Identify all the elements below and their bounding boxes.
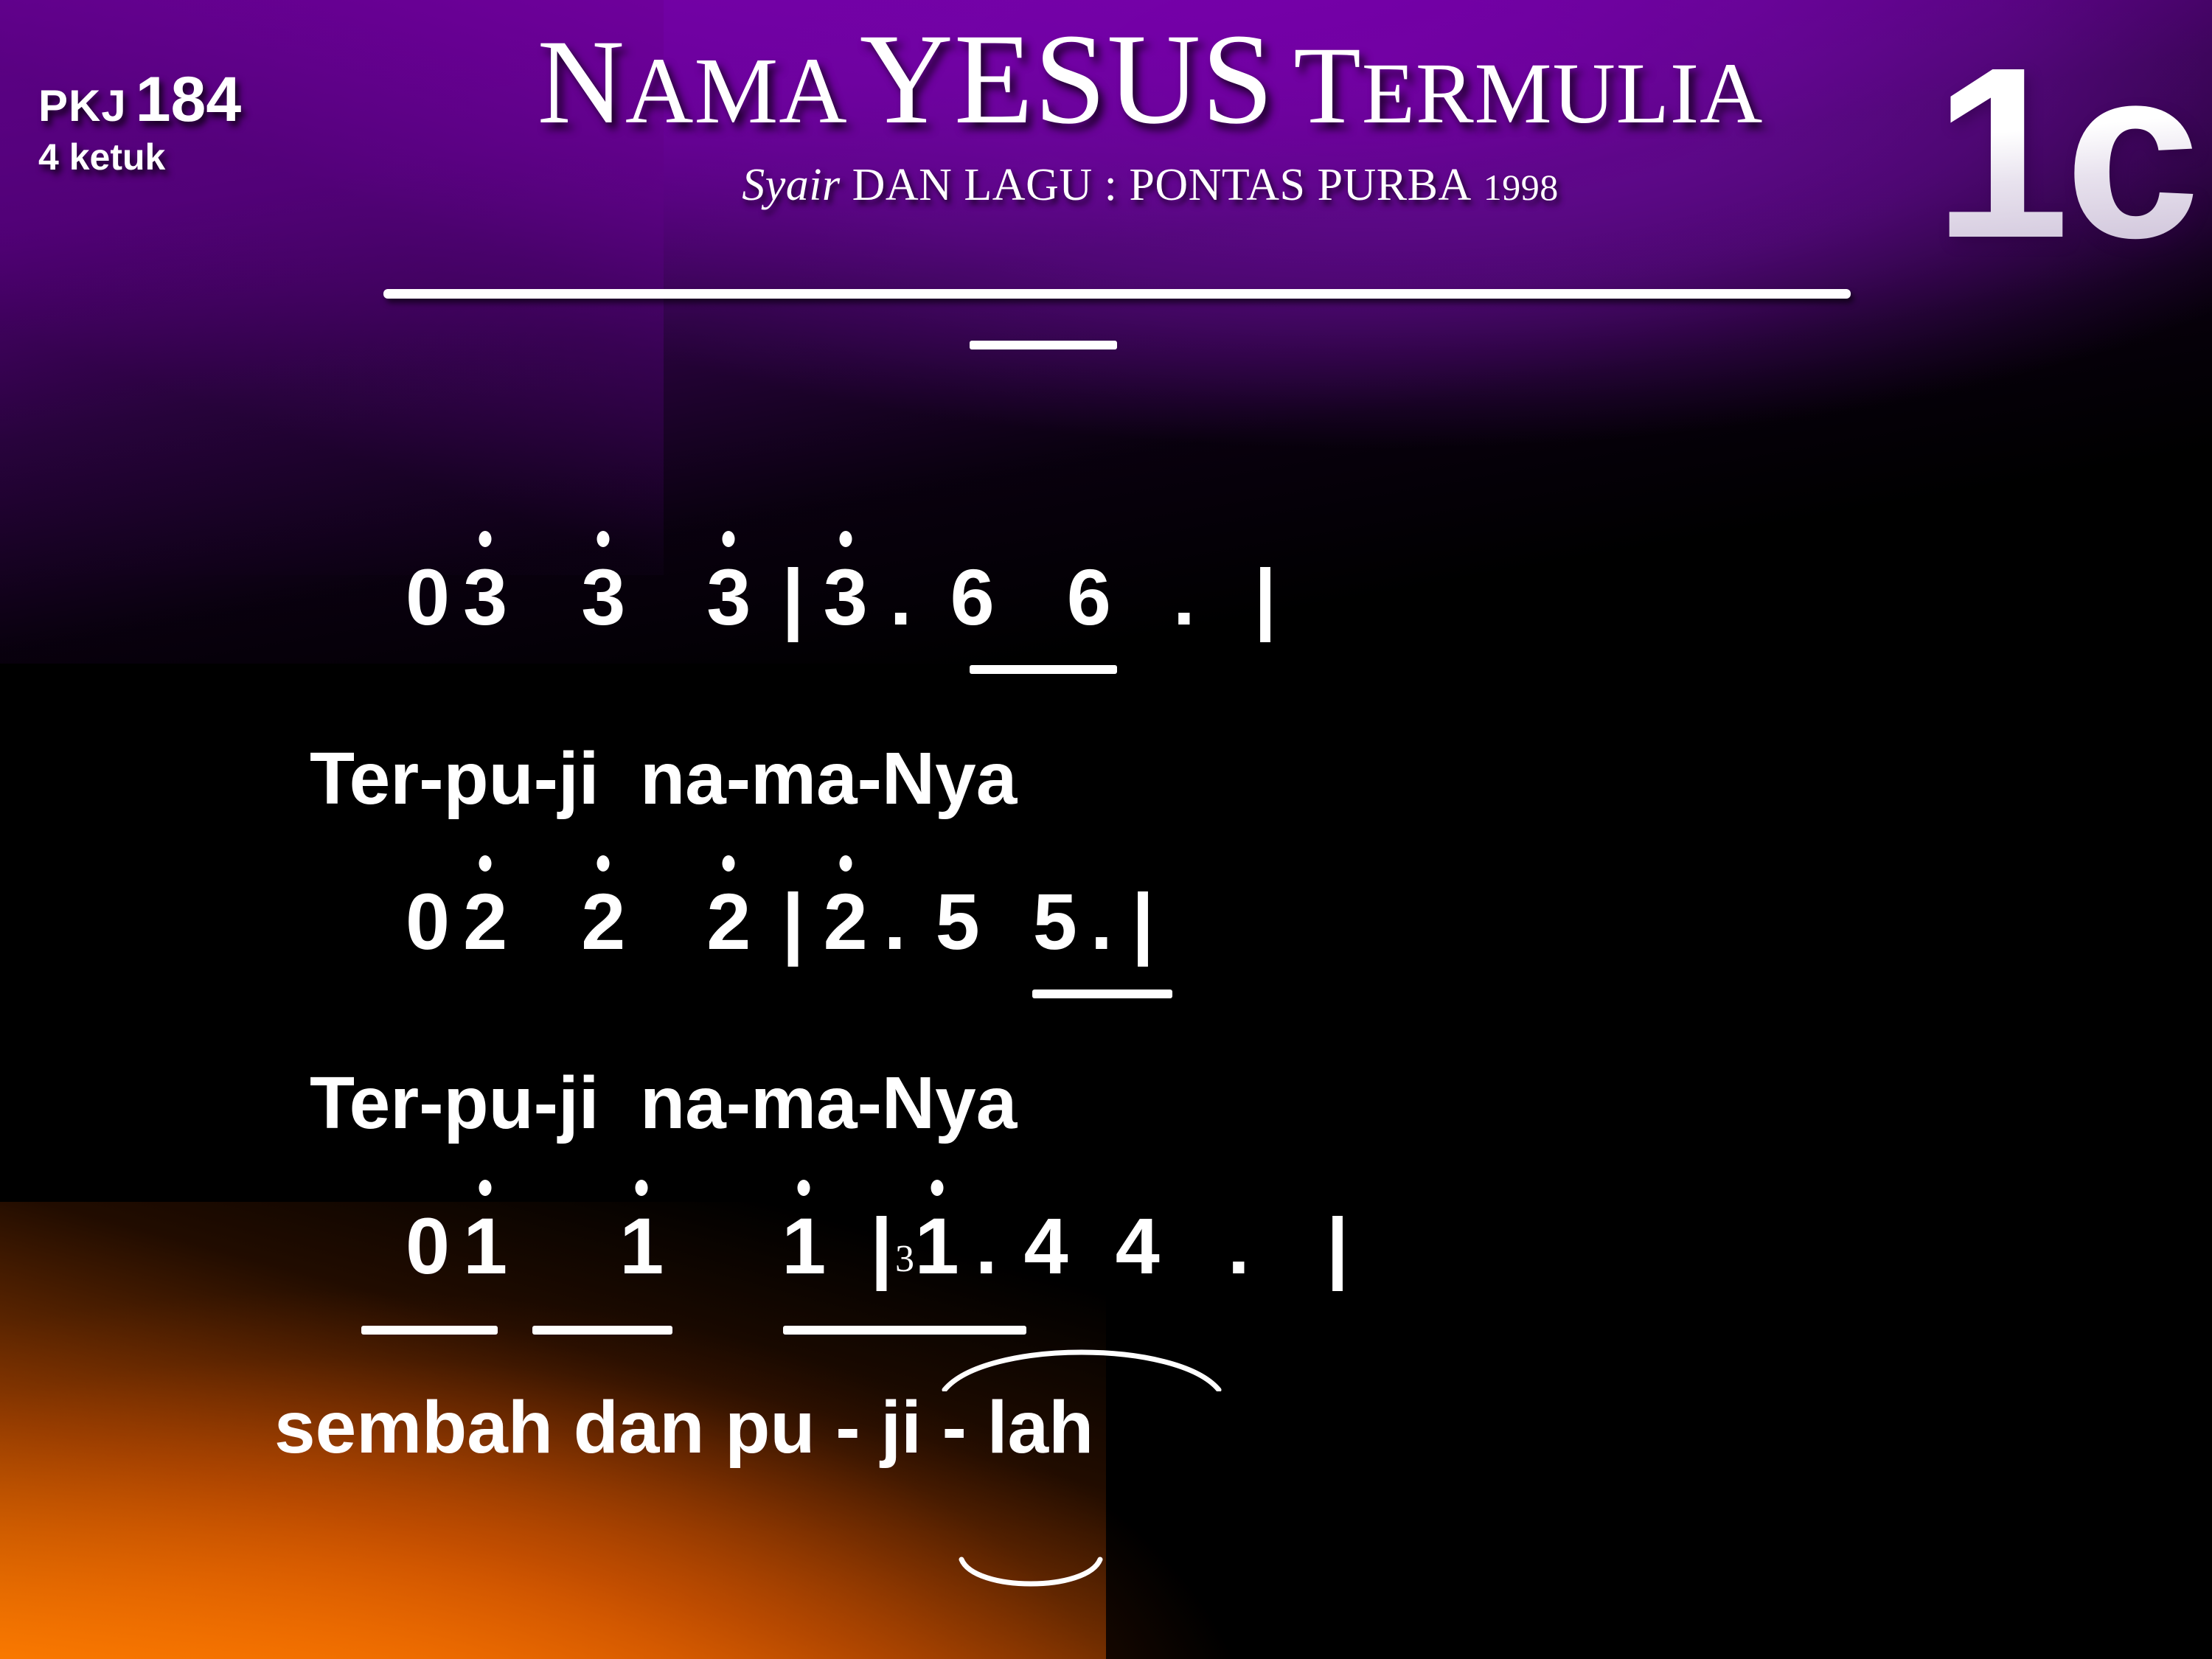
barline-icon: | <box>870 1206 892 1286</box>
beam-icon <box>532 1326 672 1335</box>
beam-icon <box>1032 990 1172 998</box>
slide-header: PKJ184 4 ketuk NAMAYESUSTERMULIA Syair D… <box>0 0 2212 347</box>
page-title: NAMAYESUSTERMULIA <box>369 13 1932 146</box>
note-1-high: 1 <box>915 1206 959 1286</box>
beam-icon <box>361 1326 498 1335</box>
credit-text: Syair DAN LAGU : PONTAS PURBA <box>742 160 1472 210</box>
hymn-slide: PKJ184 4 ketuk NAMAYESUSTERMULIA Syair D… <box>0 0 2212 1659</box>
beam-icon <box>970 665 1117 674</box>
note-4: 4 <box>1116 1206 1160 1286</box>
notes-row-3: 0111|1.44.| <box>273 1047 2212 1366</box>
note-3-high: 3 <box>706 557 751 637</box>
barline-icon: | <box>782 882 804 961</box>
note-3-high: 3 <box>824 557 868 637</box>
title-word-yesus: YESUS <box>860 7 1274 151</box>
credit-line: Syair DAN LAGU : PONTAS PURBA 1998 <box>369 159 1932 212</box>
note-2-high: 2 <box>463 882 507 961</box>
verse-badge: 1c <box>1934 58 2196 247</box>
note-dash: . <box>890 557 912 637</box>
note-1-high: 1 <box>463 1206 507 1286</box>
title-word-termulia: TERMULIA <box>1293 45 1763 142</box>
note-2-high: 2 <box>706 882 751 961</box>
header-divider <box>383 289 1851 299</box>
note-dash: . <box>884 882 906 961</box>
note-5: 5 <box>936 882 980 961</box>
notes-row-2: 0222|2.55.| <box>273 723 2212 1041</box>
title-word-nama: NAMA <box>538 38 848 143</box>
barline-icon: | <box>1326 1206 1349 1286</box>
note-dash: . <box>1091 882 1113 961</box>
note-dash: . <box>1173 557 1195 637</box>
hymn-book-label: PKJ <box>38 81 127 131</box>
note-2-high: 2 <box>581 882 625 961</box>
notes-row-4: 3 06716321|2...| <box>274 1371 2212 1659</box>
hymn-number: 184 <box>136 64 242 135</box>
title-block: NAMAYESUSTERMULIA Syair DAN LAGU : PONTA… <box>369 13 1932 212</box>
note-rest: 0 <box>406 882 450 961</box>
note-1-high: 1 <box>782 1206 826 1286</box>
barline-icon: | <box>1132 882 1154 961</box>
note-3-high: 3 <box>463 557 507 637</box>
note-3-high: 3 <box>581 557 625 637</box>
hymn-reference: PKJ184 4 ketuk <box>38 68 241 175</box>
note-5: 5 <box>1033 882 1077 961</box>
barline-icon: | <box>1254 557 1276 637</box>
note-dash: . <box>1228 1206 1250 1286</box>
beat-label: 4 ketuk <box>38 139 241 175</box>
note-rest: 0 <box>406 1206 450 1286</box>
note-6: 6 <box>950 557 995 637</box>
slur-icon <box>780 1450 928 1489</box>
note-6: 6 <box>1067 557 1111 637</box>
note-4: 4 <box>1024 1206 1068 1286</box>
note-rest: 0 <box>406 557 450 637</box>
beam-icon <box>783 1326 1026 1335</box>
note-2-high: 2 <box>824 882 868 961</box>
barline-icon: | <box>782 557 804 637</box>
notes-row-1: 0333|3.66.| <box>273 398 2212 717</box>
notation-line-4: 3 06716321|2...| Ra-ja a-lam se - mes-ta <box>0 1371 2212 1659</box>
note-dash: . <box>975 1206 998 1286</box>
credit-year: 1998 <box>1484 167 1559 208</box>
beam-icon <box>970 341 1117 349</box>
note-1-high: 1 <box>619 1206 664 1286</box>
